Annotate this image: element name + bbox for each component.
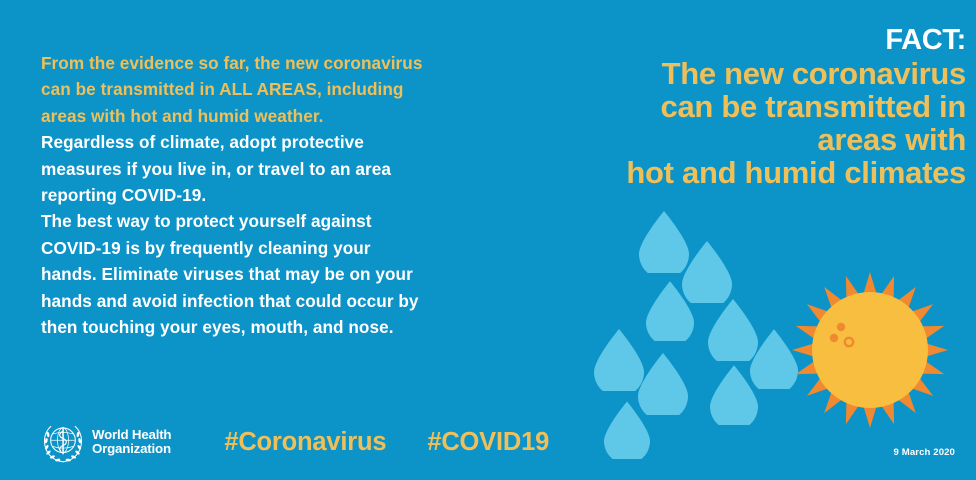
body-plain-line-1: Regardless of climate, adopt protective <box>41 129 511 155</box>
raindrop-icon <box>594 329 644 391</box>
raindrop-icon <box>604 401 650 459</box>
body-plain-line-6: hands. Eliminate viruses that may be on … <box>41 261 511 287</box>
raindrop-icon <box>710 365 758 425</box>
headline-line-2: can be transmitted in <box>536 90 966 123</box>
hashtag-covid19: #COVID19 <box>427 428 549 457</box>
footer-bar: World Health Organization #Coronavirus #… <box>41 418 549 466</box>
headline-line-4: hot and humid climates <box>536 156 966 189</box>
body-copy-block: From the evidence so far, the new corona… <box>41 50 511 340</box>
who-covid-fact-infographic: From the evidence so far, the new corona… <box>0 0 976 480</box>
fact-label: FACT: <box>536 24 966 57</box>
who-wordmark-line-1: World Health <box>92 428 171 442</box>
body-accent-line-2: can be transmitted in ALL AREAS, includi… <box>41 76 511 102</box>
body-plain-line-3: reporting COVID-19. <box>41 182 511 208</box>
body-plain-line-7: hands and avoid infection that could occ… <box>41 288 511 314</box>
raindrop-cluster <box>586 205 816 455</box>
body-plain-line-4: The best way to protect yourself against <box>41 208 511 234</box>
hashtag-coronavirus: #Coronavirus <box>224 428 386 457</box>
who-logo: World Health Organization <box>41 420 171 464</box>
body-plain-line-8: then touching your eyes, mouth, and nose… <box>41 314 511 340</box>
headline-block: FACT: The new coronavirus can be transmi… <box>536 24 966 189</box>
headline-line-3: areas with <box>536 123 966 156</box>
body-accent-line-1: From the evidence so far, the new corona… <box>41 50 511 76</box>
who-wordmark-line-2: Organization <box>92 442 171 456</box>
body-plain-line-2: measures if you live in, or travel to an… <box>41 156 511 182</box>
sun-icon <box>790 270 950 430</box>
who-emblem-icon <box>41 420 85 464</box>
date-stamp: 9 March 2020 <box>894 447 955 458</box>
body-plain-line-5: COVID-19 is by frequently cleaning your <box>41 235 511 261</box>
body-accent-line-3: areas with hot and humid weather. <box>41 103 511 129</box>
headline-line-1: The new coronavirus <box>536 57 966 90</box>
raindrop-icon <box>646 281 694 341</box>
who-wordmark: World Health Organization <box>92 428 171 457</box>
